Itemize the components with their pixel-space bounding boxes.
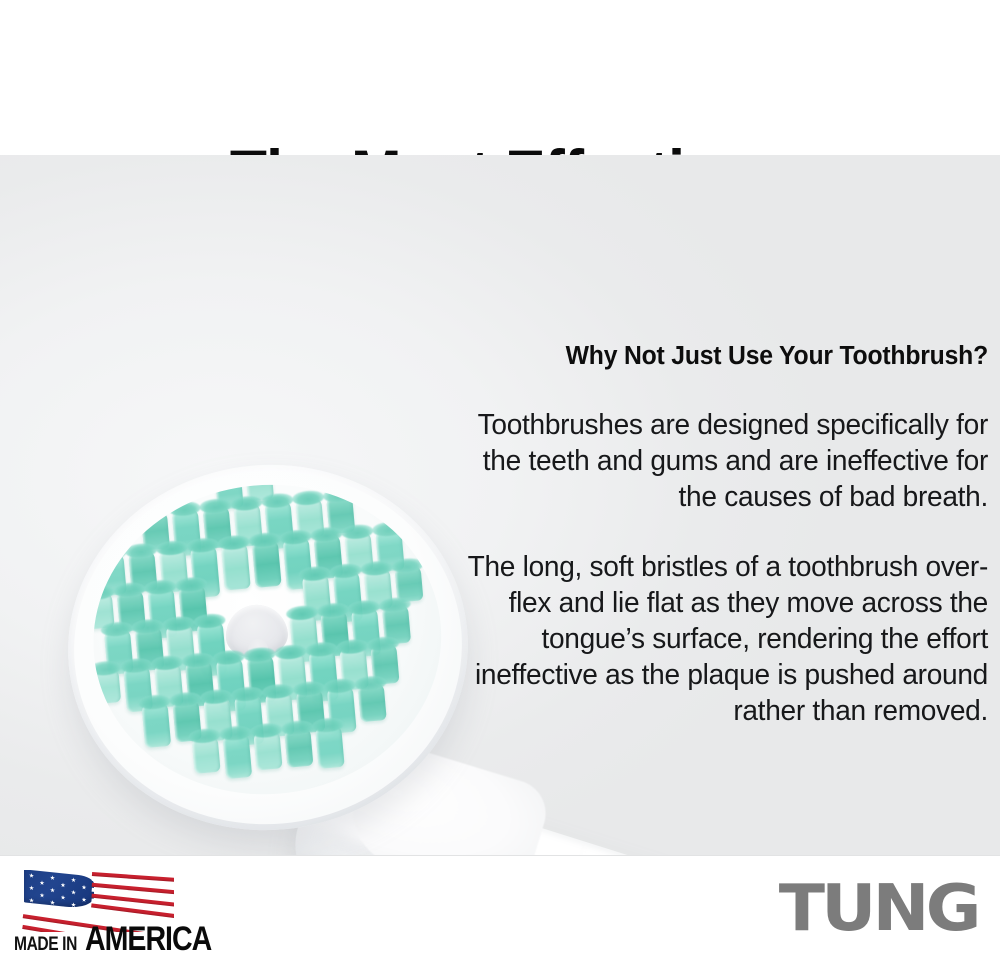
flag-star xyxy=(40,880,45,886)
bristle-tuft xyxy=(284,727,313,768)
bristle-tuft xyxy=(142,701,172,748)
made-in-america-caption: MADE INAMERICA xyxy=(14,920,226,954)
flag-star xyxy=(82,885,87,891)
flag-star xyxy=(71,877,76,883)
made-in-america-badge: MADE INAMERICA xyxy=(14,870,226,952)
copy-block: Why Not Just Use Your Toothbrush? Toothb… xyxy=(430,341,988,729)
flag-star xyxy=(61,882,66,888)
flag-star xyxy=(82,897,87,903)
flag-star xyxy=(50,875,55,881)
flag-star xyxy=(50,900,55,906)
bristle-tuft xyxy=(222,732,252,779)
section-subheading: Why Not Just Use Your Toothbrush? xyxy=(447,341,988,371)
bristle-tuft xyxy=(253,729,282,770)
headline-band: The Most Effective Tongue Cleaner...Ever xyxy=(0,0,1000,155)
flag-star xyxy=(29,885,34,891)
brush-head xyxy=(53,448,483,846)
flag-star xyxy=(29,898,34,904)
body-paragraph-1: Toothbrushes are designed specifically f… xyxy=(438,407,988,515)
bristle-tuft xyxy=(252,539,282,588)
flag-star xyxy=(61,895,66,901)
bristle-tuft xyxy=(191,735,220,774)
bristle-tuft xyxy=(315,724,345,769)
footer-bar: MADE INAMERICA TUNG xyxy=(0,856,1000,961)
flag-star xyxy=(40,893,45,899)
flag-star xyxy=(29,873,34,879)
bristle-tuft xyxy=(221,542,251,591)
america-text: AMERICA xyxy=(85,920,211,959)
product-infographic: The Most Effective Tongue Cleaner...Ever… xyxy=(0,0,1000,961)
bristle-tuft xyxy=(358,682,387,722)
product-photo: Why Not Just Use Your Toothbrush? Toothb… xyxy=(0,155,1000,855)
tung-brand-logo: TUNG xyxy=(779,878,978,940)
flag-canton xyxy=(24,870,94,910)
flag-star xyxy=(50,887,55,893)
body-paragraph-2: The long, soft bristles of a toothbrush … xyxy=(438,549,988,729)
flag-star xyxy=(71,902,76,908)
flag-star xyxy=(71,890,76,896)
made-in-text: MADE IN xyxy=(14,934,77,956)
